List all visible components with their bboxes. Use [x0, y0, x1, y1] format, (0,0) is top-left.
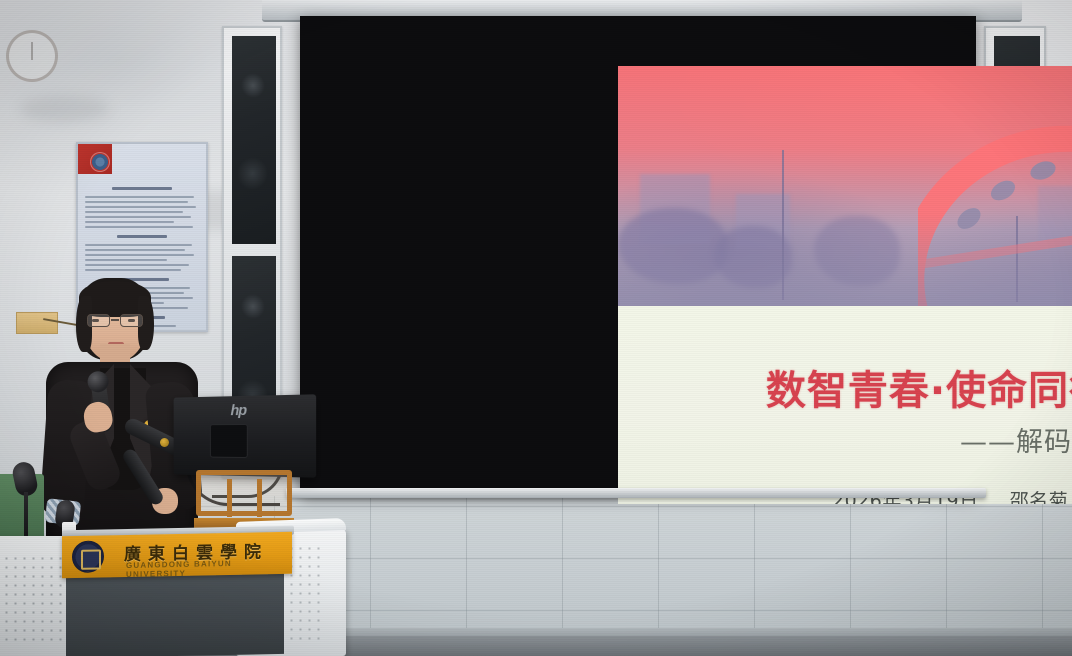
wall-clock-icon	[6, 30, 58, 82]
notice-heading	[112, 150, 200, 164]
photo-foreground	[618, 214, 1072, 306]
blackboard-glass	[232, 36, 276, 244]
hp-logo: hp	[231, 402, 247, 419]
glasses-icon	[86, 314, 144, 328]
slide-photo	[618, 66, 1072, 306]
arm-adjust-knob[interactable]	[160, 438, 169, 447]
slide-text-panel: 数智青春·使命同行 ——解码十五五规划 2026年3月19日 邵名菊	[618, 306, 1072, 504]
projection-screen: 数智青春·使命同行 ——解码十五五规划 2026年3月19日 邵名菊	[300, 16, 976, 494]
vesa-mount	[210, 424, 248, 458]
lecture-hall-photo: 数智青春·使命同行 ——解码十五五规划 2026年3月19日 邵名菊	[0, 0, 1072, 656]
slide-title: 数智青春·使命同行	[618, 358, 1072, 416]
slide-presenter-name: 邵名菊	[1010, 490, 1069, 504]
lectern-name-plate: 廣東白雲學院 GUANGDONG BAIYUN UNIVERSITY	[62, 532, 292, 578]
lectern: 廣東白雲學院 GUANGDONG BAIYUN UNIVERSITY	[56, 534, 346, 656]
chair-back	[196, 470, 292, 516]
desktop-monitor[interactable]: hp	[174, 394, 317, 477]
university-seal-icon	[72, 540, 104, 573]
screen-bottom-bar	[286, 488, 986, 498]
slide-subtitle: ——解码十五五规划	[960, 420, 1072, 459]
presentation-slide: 数智青春·使命同行 ——解码十五五规划 2026年3月19日 邵名菊	[618, 66, 1072, 504]
university-seal-icon	[90, 152, 110, 172]
wall-stain	[20, 96, 110, 122]
lectern-body	[66, 572, 284, 656]
